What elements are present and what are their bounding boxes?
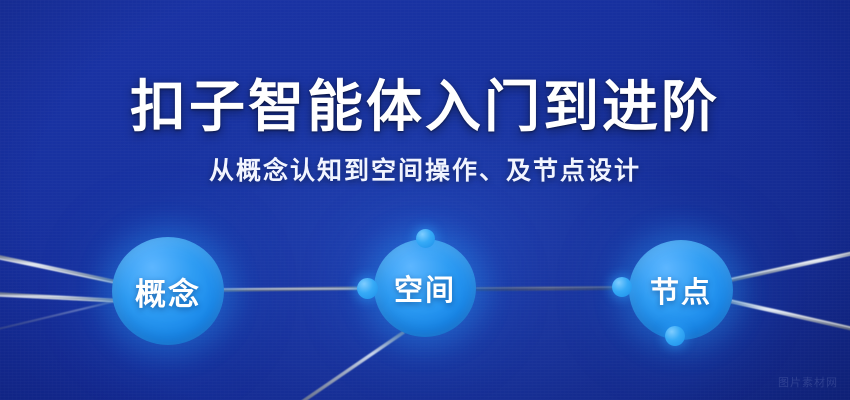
edge-left-upper bbox=[0, 256, 120, 283]
satellite-dot-space-top bbox=[416, 229, 435, 248]
node-space-label: 空间 bbox=[394, 267, 456, 309]
node-concept[interactable]: 概念 bbox=[112, 237, 224, 345]
node-point-label: 节点 bbox=[650, 269, 712, 311]
edge-right-lower bbox=[730, 301, 850, 330]
satellite-dot-point-bottom bbox=[665, 326, 685, 346]
network-graphic bbox=[0, 0, 850, 400]
edge-concept-space bbox=[222, 288, 378, 290]
node-space[interactable]: 空间 bbox=[374, 239, 476, 337]
edge-space-bottom-left bbox=[296, 332, 404, 400]
node-concept-label: 概念 bbox=[135, 269, 201, 314]
satellite-dot-point-left bbox=[612, 277, 632, 297]
banner-root: 扣子智能体入门到进阶 从概念认知到空间操作、及节点设计 概念 空间 节点 图片素… bbox=[0, 0, 850, 400]
satellite-dot-space-left bbox=[357, 278, 378, 299]
edge-left-faint bbox=[0, 300, 120, 330]
node-point[interactable]: 节点 bbox=[629, 240, 733, 340]
